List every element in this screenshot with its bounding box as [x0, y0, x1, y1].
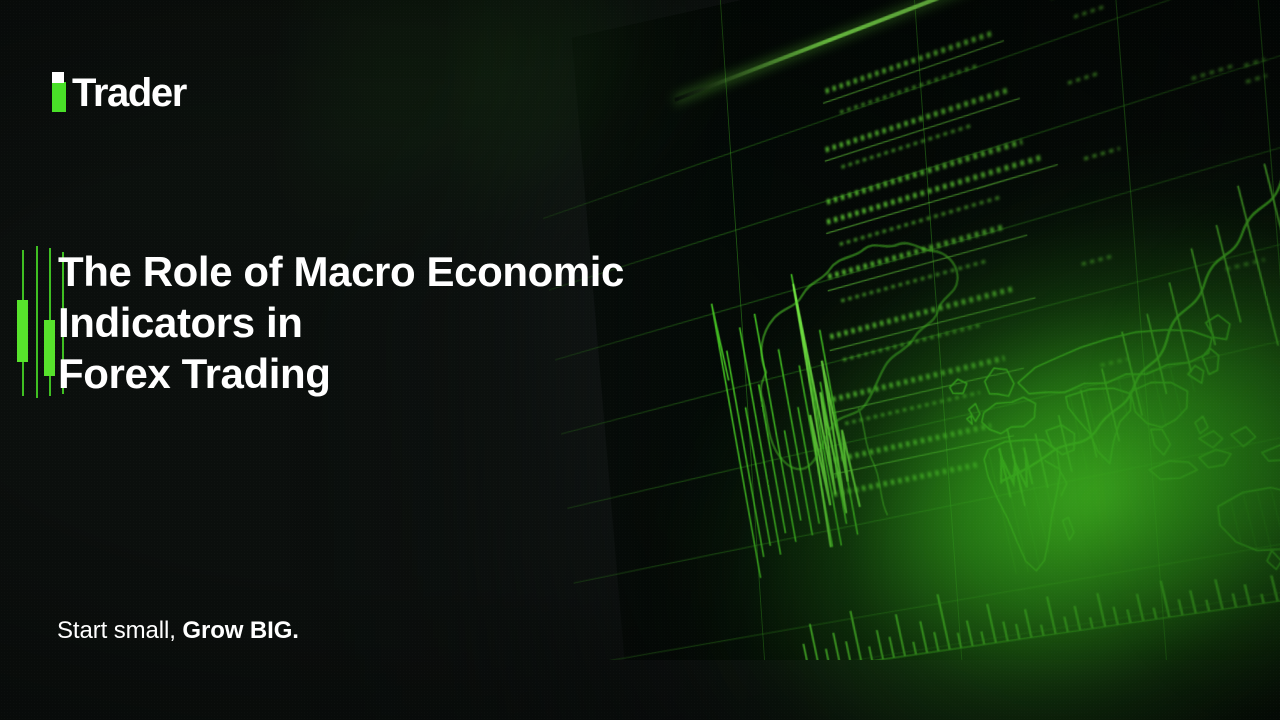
tagline-bold: Grow BIG.: [182, 617, 298, 644]
candlestick-decoration: [16, 246, 60, 398]
candle-body: [44, 320, 55, 376]
logo-i-dot: [52, 72, 64, 83]
brand-logo[interactable]: Trader: [52, 68, 186, 112]
headline-line-1: The Role of Macro Economic: [58, 246, 738, 297]
page-title: The Role of Macro Economic Indicators in…: [58, 246, 738, 399]
logo-i-stem: [52, 82, 66, 112]
headline-line-3: Forex Trading: [58, 348, 738, 399]
brand-tagline: Start small, Grow BIG.: [57, 616, 299, 646]
banner-canvas: Trader The Role of Macro Economic Indica…: [0, 0, 1280, 720]
candle-wick: [36, 246, 38, 398]
headline-line-2: Indicators in: [58, 297, 738, 348]
logo-wordmark: Trader: [72, 74, 186, 112]
tagline-regular: Start small,: [57, 617, 176, 644]
candle-body: [17, 300, 28, 362]
logo-i-mark-icon: [52, 72, 68, 112]
